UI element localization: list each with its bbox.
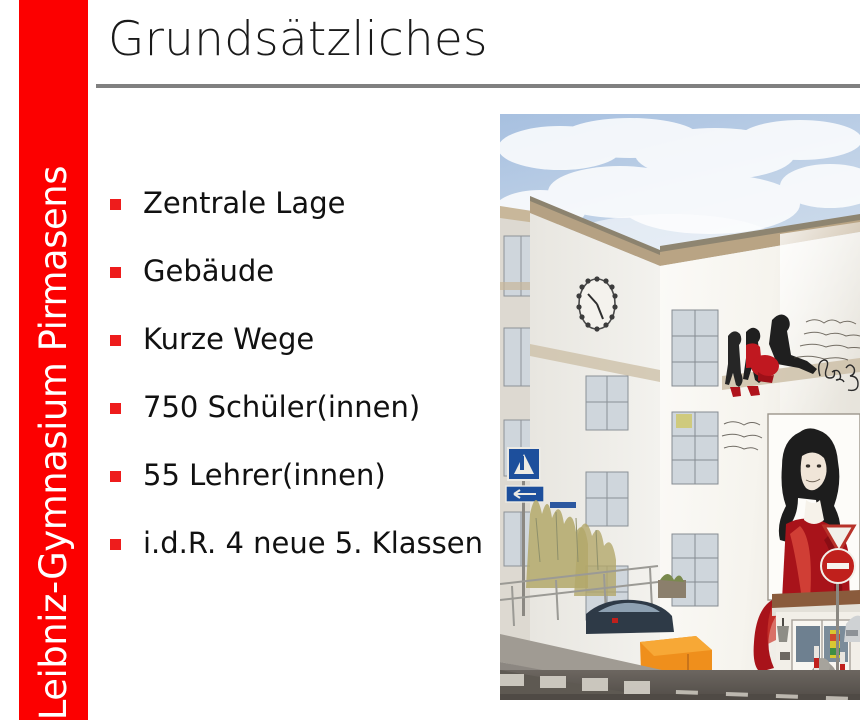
sidebar-school-name: Leibniz-Gymnasium Pirmasens xyxy=(19,152,88,720)
title-divider-rule xyxy=(96,84,860,88)
list-item: Zentrale Lage xyxy=(110,186,510,254)
list-item-label: Gebäude xyxy=(143,254,274,288)
square-bullet-icon xyxy=(110,539,121,550)
school-building-illustration xyxy=(500,114,860,700)
list-item-label: 55 Lehrer(innen) xyxy=(143,458,386,492)
square-bullet-icon xyxy=(110,199,121,210)
list-item-label: i.d.R. 4 neue 5. Klassen xyxy=(143,526,483,560)
square-bullet-icon xyxy=(110,267,121,278)
square-bullet-icon xyxy=(110,471,121,482)
list-item: 55 Lehrer(innen) xyxy=(110,458,510,526)
bullet-list: Zentrale Lage Gebäude Kurze Wege 750 Sch… xyxy=(110,186,510,594)
list-item: Gebäude xyxy=(110,254,510,322)
list-item: 750 Schüler(innen) xyxy=(110,390,510,458)
direction-arrow-sign xyxy=(506,486,544,502)
sidebar-label-wrapper: Leibniz-Gymnasium Pirmasens xyxy=(19,0,88,720)
slide-title: Grundsätzliches xyxy=(108,12,488,67)
square-bullet-icon xyxy=(110,403,121,414)
school-name-sidebar: Leibniz-Gymnasium Pirmasens xyxy=(19,0,88,720)
school-building-photo xyxy=(500,114,860,700)
list-item: Kurze Wege xyxy=(110,322,510,390)
list-item: i.d.R. 4 neue 5. Klassen xyxy=(110,526,510,594)
list-item-label: Zentrale Lage xyxy=(143,186,345,220)
presentation-slide: Leibniz-Gymnasium Pirmasens Grundsätzlic… xyxy=(0,0,860,720)
list-item-label: Kurze Wege xyxy=(143,322,314,356)
list-item-label: 750 Schüler(innen) xyxy=(143,390,420,424)
square-bullet-icon xyxy=(110,335,121,346)
